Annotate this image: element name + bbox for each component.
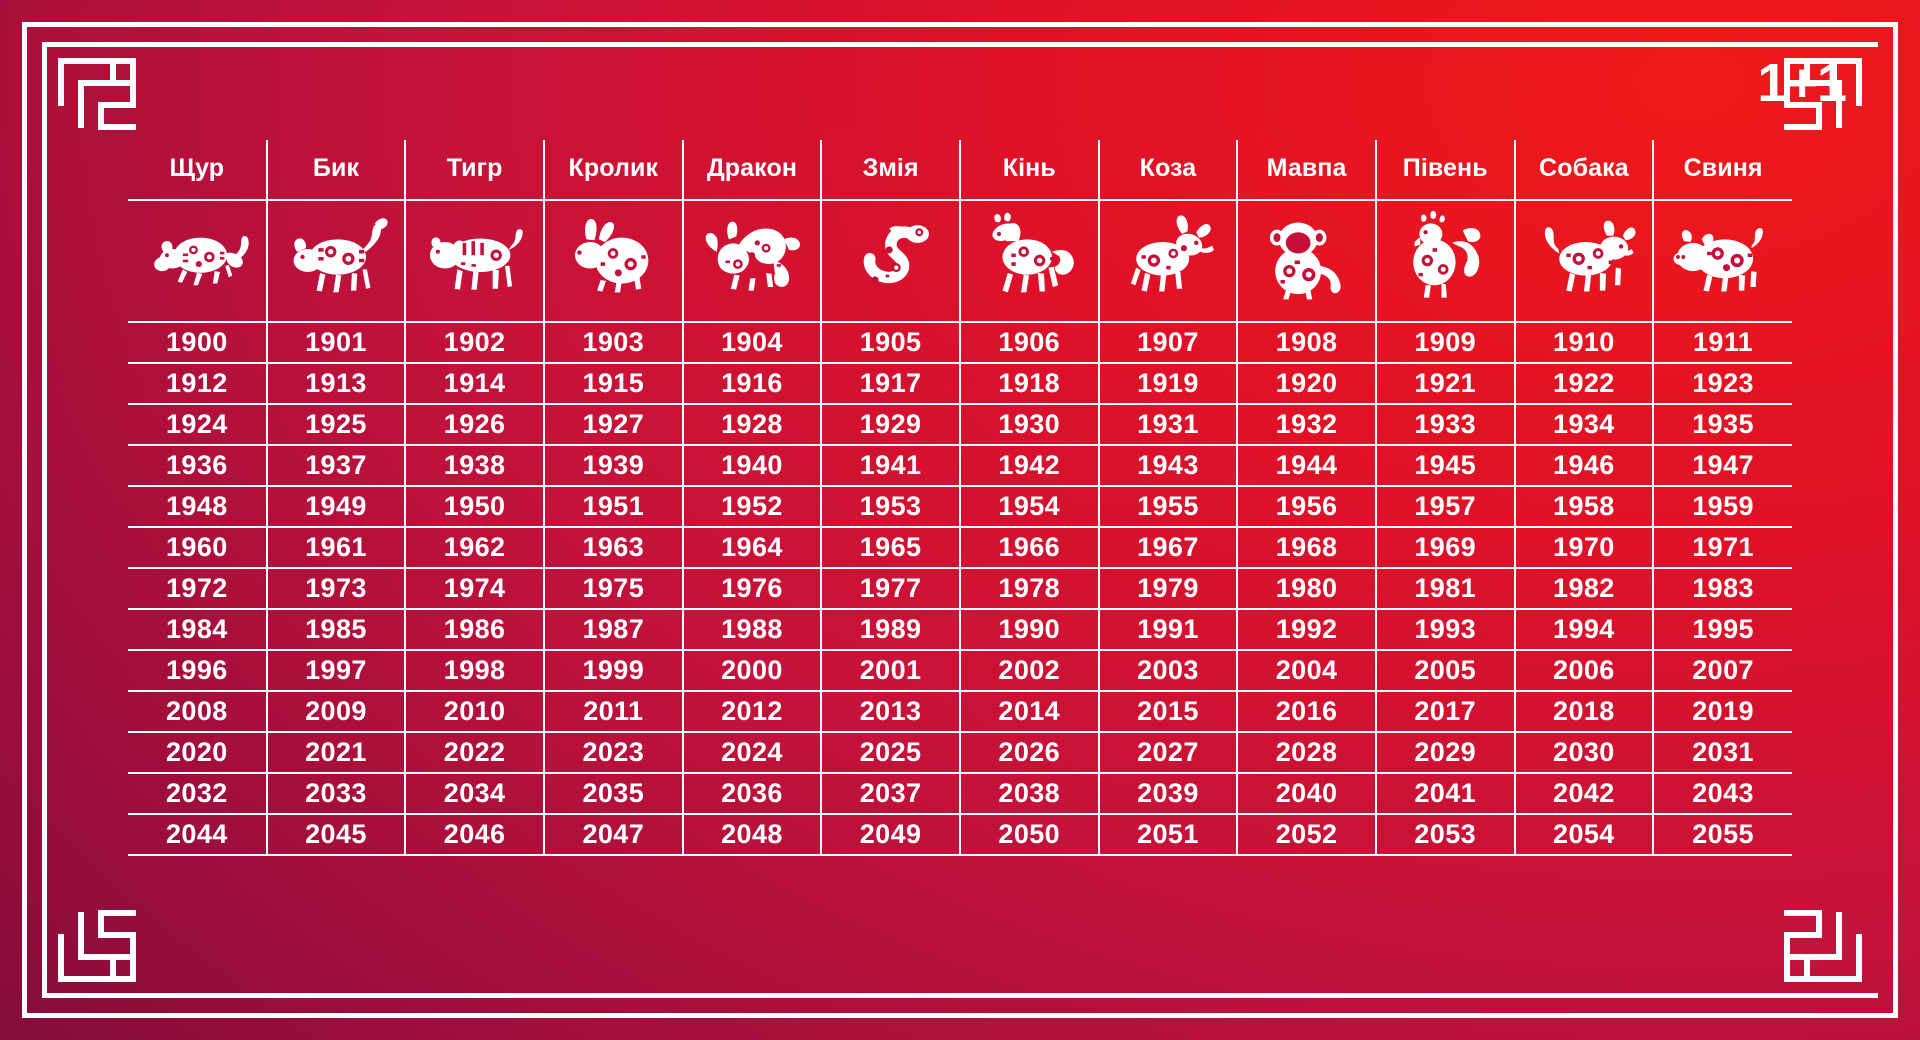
rabbit-icon-cell <box>544 200 683 322</box>
year-cell: 2055 <box>1653 814 1792 855</box>
year-cell: 2010 <box>405 691 544 732</box>
year-cell: 1947 <box>1653 445 1792 486</box>
sign-name-rooster: Півень <box>1376 140 1515 200</box>
year-cell: 2009 <box>267 691 406 732</box>
year-cell: 1933 <box>1376 404 1515 445</box>
year-cell: 1975 <box>544 568 683 609</box>
sign-name-tiger: Тигр <box>405 140 544 200</box>
year-cell: 1925 <box>267 404 406 445</box>
frame-outer-right <box>1893 22 1898 1018</box>
monkey-icon <box>1254 209 1360 305</box>
year-cell: 1908 <box>1237 322 1376 363</box>
snake-icon <box>838 209 944 305</box>
year-cell: 2054 <box>1515 814 1654 855</box>
year-cell: 1971 <box>1653 527 1792 568</box>
frame-outer-left <box>22 22 27 1018</box>
year-row: 2032203320342035203620372038203920402041… <box>128 773 1792 814</box>
frame-inner-bottom <box>42 993 1878 998</box>
goat-icon <box>1115 209 1221 305</box>
frame-outer-top <box>22 22 1898 27</box>
year-cell: 2012 <box>683 691 822 732</box>
horse-icon-cell <box>960 200 1099 322</box>
year-cell: 2046 <box>405 814 544 855</box>
year-cell: 1942 <box>960 445 1099 486</box>
rat-icon <box>144 209 250 305</box>
year-cell: 1922 <box>1515 363 1654 404</box>
year-cell: 1951 <box>544 486 683 527</box>
year-cell: 1998 <box>405 650 544 691</box>
frame-outer-bottom <box>22 1013 1898 1018</box>
year-cell: 1972 <box>128 568 267 609</box>
year-cell: 1943 <box>1099 445 1238 486</box>
year-cell: 1924 <box>128 404 267 445</box>
sign-name-snake: Змія <box>821 140 960 200</box>
year-cell: 2021 <box>267 732 406 773</box>
year-cell: 1934 <box>1515 404 1654 445</box>
year-row: 1936193719381939194019411942194319441945… <box>128 445 1792 486</box>
year-cell: 1909 <box>1376 322 1515 363</box>
year-cell: 2048 <box>683 814 822 855</box>
year-cell: 1963 <box>544 527 683 568</box>
year-cell: 1948 <box>128 486 267 527</box>
year-cell: 2027 <box>1099 732 1238 773</box>
pig-icon <box>1670 209 1776 305</box>
year-cell: 1928 <box>683 404 822 445</box>
year-cell: 1995 <box>1653 609 1792 650</box>
year-cell: 1954 <box>960 486 1099 527</box>
year-cell: 2043 <box>1653 773 1792 814</box>
sign-name-ox: Бик <box>267 140 406 200</box>
year-cell: 2002 <box>960 650 1099 691</box>
year-cell: 1931 <box>1099 404 1238 445</box>
year-cell: 2018 <box>1515 691 1654 732</box>
year-cell: 1982 <box>1515 568 1654 609</box>
year-cell: 1902 <box>405 322 544 363</box>
year-cell: 2008 <box>128 691 267 732</box>
year-cell: 1985 <box>267 609 406 650</box>
goat-icon-cell <box>1099 200 1238 322</box>
year-cell: 2028 <box>1237 732 1376 773</box>
year-row: 2044204520462047204820492050205120522053… <box>128 814 1792 855</box>
year-row: 1996199719981999200020012002200320042005… <box>128 650 1792 691</box>
year-cell: 1929 <box>821 404 960 445</box>
year-cell: 1919 <box>1099 363 1238 404</box>
year-cell: 1935 <box>1653 404 1792 445</box>
year-cell: 1916 <box>683 363 822 404</box>
year-row: 1960196119621963196419651966196719681969… <box>128 527 1792 568</box>
year-cell: 1915 <box>544 363 683 404</box>
year-cell: 1996 <box>128 650 267 691</box>
year-cell: 1969 <box>1376 527 1515 568</box>
horse-icon <box>976 209 1082 305</box>
sign-name-dragon: Дракон <box>683 140 822 200</box>
zodiac-table: Щур Бик Тигр Кролик Дракон Змія Кінь Коз… <box>128 140 1792 856</box>
year-cell: 2017 <box>1376 691 1515 732</box>
ox-icon <box>283 209 389 305</box>
year-cell: 2025 <box>821 732 960 773</box>
year-cell: 2029 <box>1376 732 1515 773</box>
year-row: 2020202120222023202420252026202720282029… <box>128 732 1792 773</box>
sign-name-rabbit: Кролик <box>544 140 683 200</box>
year-cell: 1991 <box>1099 609 1238 650</box>
sign-name-dog: Собака <box>1515 140 1654 200</box>
snake-icon-cell <box>821 200 960 322</box>
year-cell: 1957 <box>1376 486 1515 527</box>
year-cell: 1993 <box>1376 609 1515 650</box>
year-cell: 1901 <box>267 322 406 363</box>
year-cell: 2006 <box>1515 650 1654 691</box>
year-cell: 1961 <box>267 527 406 568</box>
rooster-icon-cell <box>1376 200 1515 322</box>
year-cell: 1900 <box>128 322 267 363</box>
year-cell: 1984 <box>128 609 267 650</box>
year-cell: 1960 <box>128 527 267 568</box>
year-cell: 2013 <box>821 691 960 732</box>
year-cell: 1970 <box>1515 527 1654 568</box>
rat-icon-cell <box>128 200 267 322</box>
year-cell: 2004 <box>1237 650 1376 691</box>
year-cell: 2011 <box>544 691 683 732</box>
year-cell: 2003 <box>1099 650 1238 691</box>
dragon-icon-cell <box>683 200 822 322</box>
year-cell: 2050 <box>960 814 1099 855</box>
year-cell: 2037 <box>821 773 960 814</box>
year-cell: 1974 <box>405 568 544 609</box>
year-cell: 1990 <box>960 609 1099 650</box>
sign-name-row: Щур Бик Тигр Кролик Дракон Змія Кінь Коз… <box>128 140 1792 200</box>
sign-name-monkey: Мавпа <box>1237 140 1376 200</box>
tiger-icon-cell <box>405 200 544 322</box>
year-cell: 2045 <box>267 814 406 855</box>
sign-name-horse: Кінь <box>960 140 1099 200</box>
year-row: 1948194919501951195219531954195519561957… <box>128 486 1792 527</box>
year-cell: 1967 <box>1099 527 1238 568</box>
year-cell: 1964 <box>683 527 822 568</box>
ox-icon-cell <box>267 200 406 322</box>
year-cell: 1910 <box>1515 322 1654 363</box>
year-cell: 1927 <box>544 404 683 445</box>
year-cell: 1980 <box>1237 568 1376 609</box>
year-cell: 1921 <box>1376 363 1515 404</box>
year-cell: 1986 <box>405 609 544 650</box>
year-cell: 2047 <box>544 814 683 855</box>
year-cell: 2019 <box>1653 691 1792 732</box>
year-cell: 1903 <box>544 322 683 363</box>
year-row: 1972197319741975197619771978197919801981… <box>128 568 1792 609</box>
year-cell: 2016 <box>1237 691 1376 732</box>
frame-inner-left <box>42 42 47 998</box>
year-cell: 1937 <box>267 445 406 486</box>
year-cell: 1953 <box>821 486 960 527</box>
dog-icon-cell <box>1515 200 1654 322</box>
year-cell: 2020 <box>128 732 267 773</box>
year-cell: 1994 <box>1515 609 1654 650</box>
year-cell: 2044 <box>128 814 267 855</box>
year-cell: 2030 <box>1515 732 1654 773</box>
year-cell: 1918 <box>960 363 1099 404</box>
year-cell: 2042 <box>1515 773 1654 814</box>
year-cell: 2053 <box>1376 814 1515 855</box>
year-cell: 1978 <box>960 568 1099 609</box>
zodiac-table-body: 1900190119021903190419051906190719081909… <box>128 200 1792 855</box>
year-cell: 1905 <box>821 322 960 363</box>
year-cell: 1941 <box>821 445 960 486</box>
frame-inner-top <box>42 42 1878 47</box>
year-cell: 1987 <box>544 609 683 650</box>
year-cell: 1940 <box>683 445 822 486</box>
year-cell: 2036 <box>683 773 822 814</box>
year-cell: 1955 <box>1099 486 1238 527</box>
year-cell: 2000 <box>683 650 822 691</box>
year-cell: 1911 <box>1653 322 1792 363</box>
year-cell: 2033 <box>267 773 406 814</box>
year-row: 1900190119021903190419051906190719081909… <box>128 322 1792 363</box>
channel-logo: 1+1 <box>1757 56 1846 110</box>
year-cell: 2023 <box>544 732 683 773</box>
sign-name-pig: Свиня <box>1653 140 1792 200</box>
year-cell: 1946 <box>1515 445 1654 486</box>
year-cell: 1932 <box>1237 404 1376 445</box>
sign-name-rat: Щур <box>128 140 267 200</box>
year-cell: 1950 <box>405 486 544 527</box>
year-cell: 2007 <box>1653 650 1792 691</box>
year-cell: 1958 <box>1515 486 1654 527</box>
year-cell: 1989 <box>821 609 960 650</box>
year-cell: 1959 <box>1653 486 1792 527</box>
dragon-icon <box>699 209 805 305</box>
year-cell: 1977 <box>821 568 960 609</box>
year-cell: 1917 <box>821 363 960 404</box>
year-cell: 2005 <box>1376 650 1515 691</box>
year-cell: 2052 <box>1237 814 1376 855</box>
year-cell: 1912 <box>128 363 267 404</box>
year-cell: 1926 <box>405 404 544 445</box>
year-cell: 2032 <box>128 773 267 814</box>
year-cell: 2039 <box>1099 773 1238 814</box>
year-cell: 1904 <box>683 322 822 363</box>
sign-name-goat: Коза <box>1099 140 1238 200</box>
year-cell: 1938 <box>405 445 544 486</box>
zodiac-calendar: Щур Бик Тигр Кролик Дракон Змія Кінь Коз… <box>128 140 1792 856</box>
year-cell: 1944 <box>1237 445 1376 486</box>
year-row: 1924192519261927192819291930193119321933… <box>128 404 1792 445</box>
year-cell: 1956 <box>1237 486 1376 527</box>
year-cell: 1983 <box>1653 568 1792 609</box>
rooster-icon <box>1392 209 1498 305</box>
tiger-icon <box>422 209 528 305</box>
year-cell: 1907 <box>1099 322 1238 363</box>
year-cell: 1930 <box>960 404 1099 445</box>
year-cell: 1962 <box>405 527 544 568</box>
dog-icon <box>1531 209 1637 305</box>
year-cell: 1992 <box>1237 609 1376 650</box>
year-cell: 1997 <box>267 650 406 691</box>
monkey-icon-cell <box>1237 200 1376 322</box>
year-row: 1912191319141915191619171918191919201921… <box>128 363 1792 404</box>
year-cell: 2035 <box>544 773 683 814</box>
year-cell: 1965 <box>821 527 960 568</box>
greek-key-corner-bottom-left <box>58 864 176 982</box>
year-cell: 2038 <box>960 773 1099 814</box>
year-cell: 1920 <box>1237 363 1376 404</box>
year-row: 2008200920102011201220132014201520162017… <box>128 691 1792 732</box>
year-cell: 2040 <box>1237 773 1376 814</box>
sign-icon-row <box>128 200 1792 322</box>
year-cell: 1906 <box>960 322 1099 363</box>
year-cell: 1968 <box>1237 527 1376 568</box>
year-cell: 2049 <box>821 814 960 855</box>
year-cell: 1988 <box>683 609 822 650</box>
year-cell: 1952 <box>683 486 822 527</box>
year-cell: 2051 <box>1099 814 1238 855</box>
greek-key-corner-bottom-right <box>1744 864 1862 982</box>
year-cell: 1966 <box>960 527 1099 568</box>
year-cell: 1949 <box>267 486 406 527</box>
year-cell: 2026 <box>960 732 1099 773</box>
year-cell: 2001 <box>821 650 960 691</box>
year-cell: 2015 <box>1099 691 1238 732</box>
year-cell: 2041 <box>1376 773 1515 814</box>
year-cell: 2014 <box>960 691 1099 732</box>
year-cell: 1936 <box>128 445 267 486</box>
year-cell: 1945 <box>1376 445 1515 486</box>
year-cell: 1913 <box>267 363 406 404</box>
year-cell: 2022 <box>405 732 544 773</box>
year-cell: 1914 <box>405 363 544 404</box>
year-cell: 2031 <box>1653 732 1792 773</box>
year-cell: 1973 <box>267 568 406 609</box>
year-cell: 1981 <box>1376 568 1515 609</box>
year-cell: 1979 <box>1099 568 1238 609</box>
year-cell: 1923 <box>1653 363 1792 404</box>
year-row: 1984198519861987198819891990199119921993… <box>128 609 1792 650</box>
year-cell: 1976 <box>683 568 822 609</box>
year-cell: 2024 <box>683 732 822 773</box>
year-cell: 1939 <box>544 445 683 486</box>
year-cell: 1999 <box>544 650 683 691</box>
year-cell: 2034 <box>405 773 544 814</box>
rabbit-icon <box>560 209 666 305</box>
pig-icon-cell <box>1653 200 1792 322</box>
